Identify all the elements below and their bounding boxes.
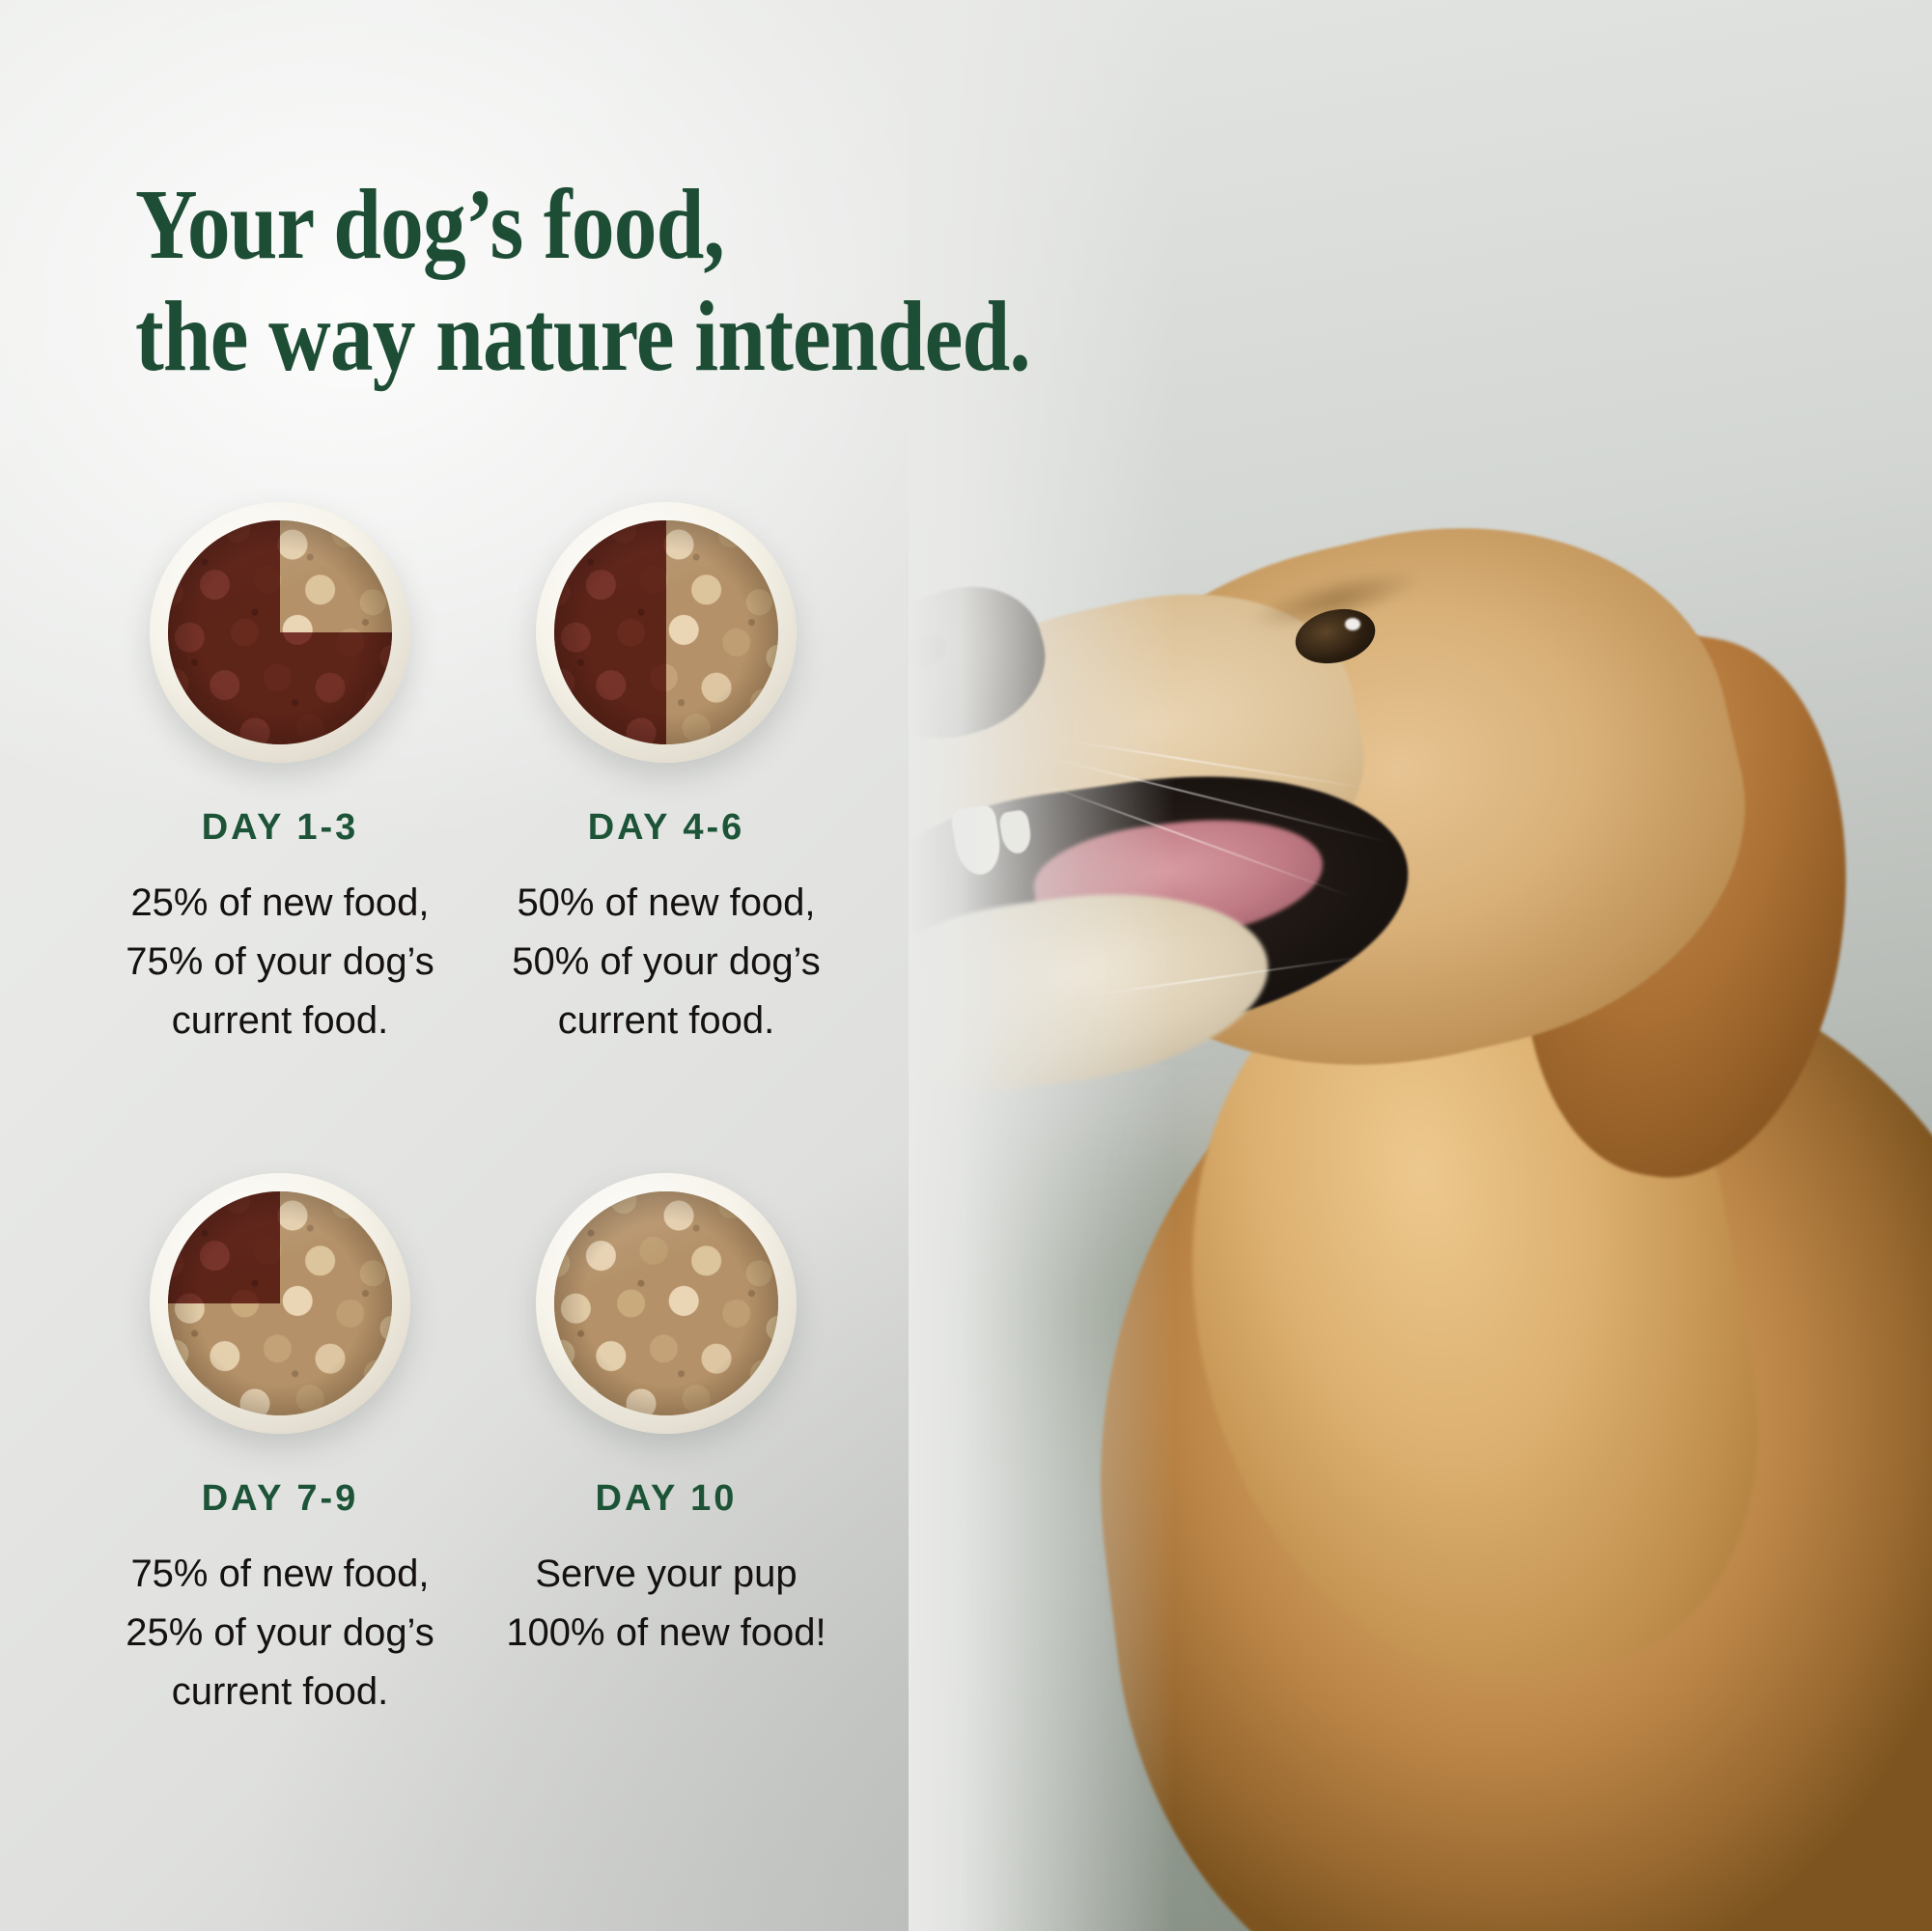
dog-bowl-icon (150, 502, 410, 763)
dog-bowl-icon (536, 502, 797, 763)
transition-step-day-4-6: DAY 4-6 50% of new food, 50% of your dog… (459, 502, 874, 1049)
bowl-day-10 (536, 1173, 797, 1434)
day-label: DAY 7-9 (72, 1478, 488, 1520)
step-description: 25% of new food, 75% of your dog’s curre… (72, 874, 488, 1049)
headline-line-1: Your dog’s food, (135, 169, 724, 280)
desc-line: 100% of new food! (459, 1604, 874, 1663)
step-description: 75% of new food, 25% of your dog’s curre… (72, 1545, 488, 1721)
transition-step-day-10: DAY 10 Serve your pup 100% of new food! (459, 1173, 874, 1663)
headline-line-2: the way nature intended. (135, 281, 1030, 392)
kibble-shading (554, 1191, 778, 1415)
desc-line: current food. (72, 1663, 488, 1721)
desc-line: Serve your pup (459, 1545, 874, 1604)
step-description: Serve your pup 100% of new food! (459, 1545, 874, 1663)
bowl-day-7-9 (150, 1173, 410, 1434)
desc-line: 25% of new food, (72, 874, 488, 933)
desc-line: 50% of new food, (459, 874, 874, 933)
day-label: DAY 4-6 (459, 807, 874, 849)
dog-bowl-icon (536, 1173, 797, 1434)
desc-line: 75% of new food, (72, 1545, 488, 1604)
bowl-kibble (168, 520, 392, 744)
day-label: DAY 10 (459, 1478, 874, 1520)
desc-line: 75% of your dog’s (72, 933, 488, 992)
desc-line: 25% of your dog’s (72, 1604, 488, 1663)
infographic-content: Your dog’s food, the way nature intended… (0, 0, 1932, 1931)
bowl-kibble (554, 520, 778, 744)
bowl-day-4-6 (536, 502, 797, 763)
transition-step-day-1-3: DAY 1-3 25% of new food, 75% of your dog… (72, 502, 488, 1049)
bowl-day-1-3 (150, 502, 410, 763)
bowl-kibble (168, 1191, 392, 1415)
desc-line: current food. (72, 992, 488, 1050)
page-title: Your dog’s food, the way nature intended… (135, 169, 1030, 394)
day-label: DAY 1-3 (72, 807, 488, 849)
desc-line: current food. (459, 992, 874, 1050)
step-description: 50% of new food, 50% of your dog’s curre… (459, 874, 874, 1049)
bowl-kibble (554, 1191, 778, 1415)
dog-bowl-icon (150, 1173, 410, 1434)
transition-step-day-7-9: DAY 7-9 75% of new food, 25% of your dog… (72, 1173, 488, 1721)
desc-line: 50% of your dog’s (459, 933, 874, 992)
